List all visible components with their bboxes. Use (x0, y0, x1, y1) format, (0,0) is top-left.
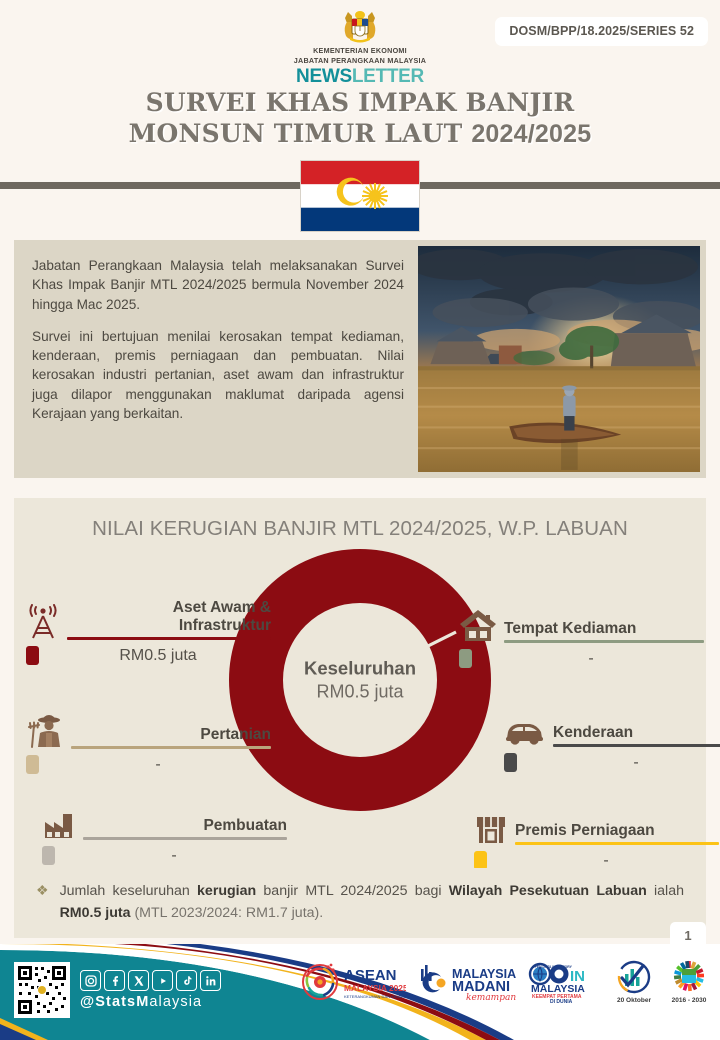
legend-label-line-1: Tempat Kediaman (504, 620, 704, 638)
footer-social-block: @StatsMalaysia (14, 962, 221, 1018)
asean-malaysia-2025-logo: ASEAN MALAYSIA 2025 KETERANGKUMAN DAN KE… (298, 960, 406, 1004)
svg-text:KETERANGKUMAN DAN KEMAMPANAN: KETERANGKUMAN DAN KEMAMPANAN (344, 994, 406, 999)
odin-malaysia-logo: IN OPEN DATA INVENTORY MALAYSIA KEEMPAT … (528, 960, 600, 1004)
legend-color-swatch (459, 649, 472, 668)
title-line-2-main: MONSUN TIMUR LAUT (129, 119, 463, 148)
legend-color-swatch (504, 753, 517, 772)
facebook-icon[interactable] (104, 970, 125, 991)
house-icon (459, 607, 497, 643)
hari-statistik-logo: 20 Oktober (612, 960, 656, 1004)
legend-amount: - (493, 852, 719, 870)
legend-rule (71, 746, 271, 749)
summary-text: Jumlah keseluruhan kerugian banjir MTL 2… (60, 880, 684, 924)
legend-premis-perniagaan[interactable]: Premis Perniagaan - (474, 811, 719, 870)
summary-bullet-icon: ❖ (36, 880, 49, 901)
instagram-icon[interactable] (80, 970, 101, 991)
legend-label-line-1: Premis Perniagaan (515, 822, 719, 840)
page-footer: @StatsMalaysia (0, 944, 720, 1040)
legend-label-line-1: Kenderaan (553, 724, 720, 742)
intro-paragraph-2: Survei ini bertujuan menilai kerosakan t… (32, 327, 404, 423)
handle-light: alaysia (149, 994, 202, 1010)
broadcast-tower-icon (26, 604, 60, 640)
labuan-flag-icon (300, 160, 420, 232)
intro-paragraph-1: Jabatan Perangkaan Malaysia telah melaks… (32, 256, 404, 314)
chart-panel: NILAI KERUGIAN BANJIR MTL 2024/2025, W.P… (14, 498, 706, 930)
summary-box: ❖ Jumlah keseluruhan kerugian banjir MTL… (14, 868, 706, 938)
page-title: SURVEI KHAS IMPAK BANJIR MONSUN TIMUR LA… (0, 88, 720, 150)
youtube-icon[interactable] (152, 970, 173, 991)
ministry-line-2: JABATAN PERANGKAAN MALAYSIA (0, 56, 720, 66)
handle-bold: @StatsM (80, 994, 149, 1010)
brand-block: KEMENTERIAN EKONOMI JABATAN PERANGKAAN M… (0, 6, 720, 86)
legend-rule (553, 744, 720, 747)
legend-rule (67, 637, 271, 640)
legend-color-swatch (42, 846, 55, 865)
summary-bold-3: RM0.5 juta (60, 905, 131, 921)
legend-amount: - (478, 650, 704, 668)
legend-color-swatch (26, 646, 39, 665)
shop-icon (474, 811, 508, 845)
linkedin-icon[interactable] (200, 970, 221, 991)
summary-part-3: ialah (647, 883, 684, 899)
svg-text:ASEAN: ASEAN (344, 967, 397, 984)
legend-amount: - (523, 754, 720, 772)
legend-pembuatan[interactable]: Pembuatan - (42, 808, 287, 865)
malaysia-coat-of-arms-icon (338, 6, 382, 46)
newsletter-wordmark: NEWSLETTER (0, 67, 720, 86)
summary-part-2: banjir MTL 2024/2025 bagi (256, 883, 449, 899)
legend-rule (515, 842, 719, 845)
legend-tempat-kediaman[interactable]: Tempat Kediaman - (459, 607, 704, 668)
donut-chart-svg[interactable] (225, 545, 495, 815)
tiktok-icon[interactable] (176, 970, 197, 991)
social-links: @StatsMalaysia (80, 970, 221, 1010)
chart-area: Keseluruhan RM0.5 juta (14, 541, 706, 841)
newsletter-part-1: NEWS (296, 66, 352, 87)
summary-part-1: Jumlah keseluruhan (60, 883, 197, 899)
farmer-icon (26, 713, 64, 749)
legend-label-line-1: Pembuatan (83, 817, 287, 835)
x-twitter-icon[interactable] (128, 970, 149, 991)
legend-amount: - (61, 847, 287, 865)
title-line-2-year: 2024/2025 (471, 120, 591, 148)
legend-rule (83, 837, 287, 840)
social-handle: @StatsMalaysia (80, 994, 221, 1010)
svg-text:DI DUNIA: DI DUNIA (550, 999, 573, 1004)
page-header: DOSM/BPP/18.2025/SERIES 52 KEMENTERIAN E… (0, 0, 720, 175)
hari-statistik-caption: 20 Oktober (617, 997, 651, 1004)
qr-code-icon[interactable] (14, 962, 70, 1018)
legend-pertanian[interactable]: Pertanian - (26, 713, 271, 774)
newsletter-part-2: LETTER (352, 66, 424, 87)
sdg-caption: 2016 - 2030 (672, 997, 707, 1004)
car-icon (504, 719, 546, 747)
partner-logos: ASEAN MALAYSIA 2025 KETERANGKUMAN DAN KE… (298, 960, 710, 1004)
legend-label-line-1: Pertanian (71, 726, 271, 744)
title-line-1: SURVEI KHAS IMPAK BANJIR (0, 88, 720, 119)
legend-color-swatch (26, 755, 39, 774)
chart-title: NILAI KERUGIAN BANJIR MTL 2024/2025, W.P… (14, 498, 706, 541)
legend-label-line-2: Infrastruktur (67, 617, 271, 635)
newsletter-page: DOSM/BPP/18.2025/SERIES 52 KEMENTERIAN E… (0, 0, 720, 1040)
title-line-2: MONSUN TIMUR LAUT 2024/2025 (0, 119, 720, 150)
social-icon-row (80, 970, 221, 991)
malaysia-madani-logo: MALAYSIA MADANI kemampanan (418, 961, 516, 1003)
legend-kenderaan[interactable]: Kenderaan - (504, 719, 720, 772)
legend-label-line-1: Aset Awam & (67, 599, 271, 617)
legend-rule (504, 640, 704, 643)
summary-part-4: (MTL 2023/2024: RM1.7 juta). (131, 905, 324, 921)
legend-amount: RM0.5 juta (45, 647, 271, 665)
flood-village-boat-photo (418, 246, 700, 472)
svg-text:MALAYSIA 2025: MALAYSIA 2025 (344, 983, 406, 993)
legend-aset-awam-infrastruktur[interactable]: Aset Awam & Infrastruktur RM0.5 juta (26, 599, 271, 665)
legend-amount: - (45, 756, 271, 774)
donut-chart[interactable]: Keseluruhan RM0.5 juta (225, 545, 495, 815)
svg-text:kemampanan: kemampanan (466, 993, 516, 1003)
summary-bold-2: Wilayah Pesekutuan Labuan (449, 883, 647, 899)
intro-panel: Jabatan Perangkaan Malaysia telah melaks… (14, 240, 706, 478)
svg-text:OPEN DATA INVENTORY: OPEN DATA INVENTORY (532, 965, 573, 969)
intro-text: Jabatan Perangkaan Malaysia telah melaks… (14, 240, 418, 478)
factory-icon (42, 808, 76, 840)
summary-bold-1: kerugian (197, 883, 256, 899)
ministry-line-1: KEMENTERIAN EKONOMI (0, 46, 720, 56)
sdg-wheel-logo: 2016 - 2030 (668, 960, 710, 1004)
